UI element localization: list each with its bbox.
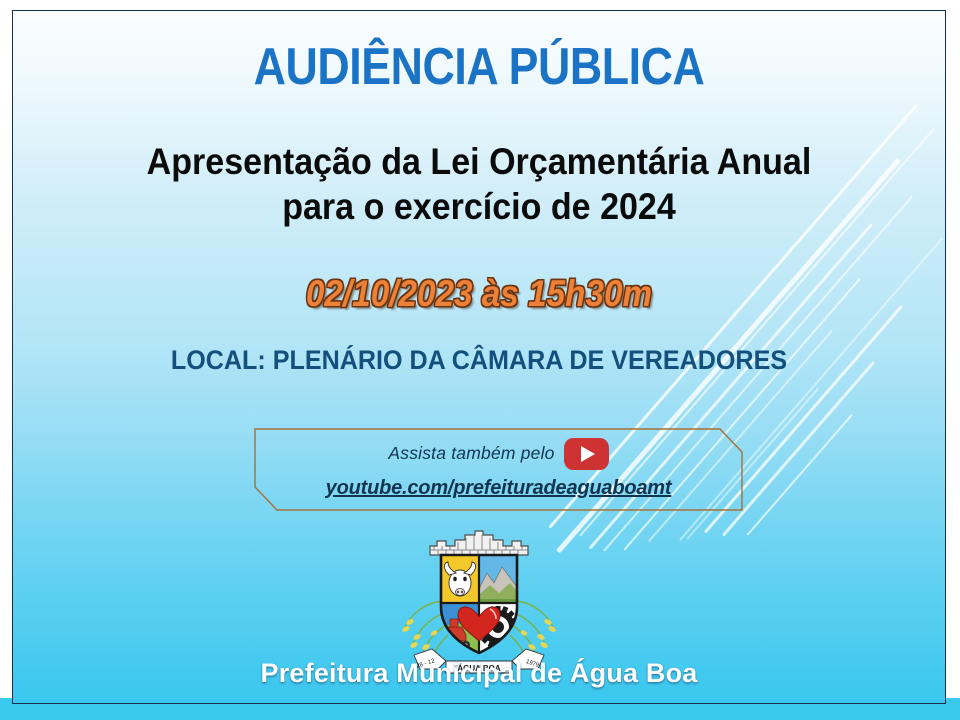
page-title: AUDIÊNCIA PÚBLICA bbox=[78, 37, 880, 97]
subtitle: Apresentação da Lei Orçamentária Anual p… bbox=[50, 139, 907, 229]
subtitle-line-1: Apresentação da Lei Orçamentária Anual bbox=[50, 139, 907, 184]
subtitle-line-2: para o exercício de 2024 bbox=[50, 184, 907, 229]
coat-of-arms-icon: 28 - 12 ÁGUA BOA 1979 bbox=[386, 529, 572, 677]
watch-also-label: Assista também pelo bbox=[388, 443, 554, 464]
youtube-play-icon[interactable] bbox=[564, 438, 609, 470]
event-location: LOCAL: PLENÁRIO DA CÂMARA DE VEREADORES bbox=[46, 345, 913, 376]
slide-frame: AUDIÊNCIA PÚBLICA Apresentação da Lei Or… bbox=[12, 10, 946, 704]
watch-row: Assista também pelo bbox=[388, 438, 608, 470]
streak-line bbox=[722, 361, 875, 536]
slide: AUDIÊNCIA PÚBLICA Apresentação da Lei Or… bbox=[0, 0, 960, 720]
youtube-callout-box: Assista também pelo youtube.com/prefeitu… bbox=[254, 428, 743, 511]
mural-crown-icon bbox=[430, 531, 528, 555]
event-datetime: 02/10/2023 às 15h30m bbox=[60, 273, 899, 315]
streak-line bbox=[746, 414, 853, 536]
play-triangle-icon bbox=[581, 446, 595, 462]
brasao-agua-boa: 28 - 12 ÁGUA BOA 1979 bbox=[386, 529, 572, 677]
footer-organization: Prefeitura Municipal de Água Boa bbox=[13, 658, 945, 689]
youtube-channel-link[interactable]: youtube.com/prefeituradeaguaboamt bbox=[326, 477, 672, 500]
